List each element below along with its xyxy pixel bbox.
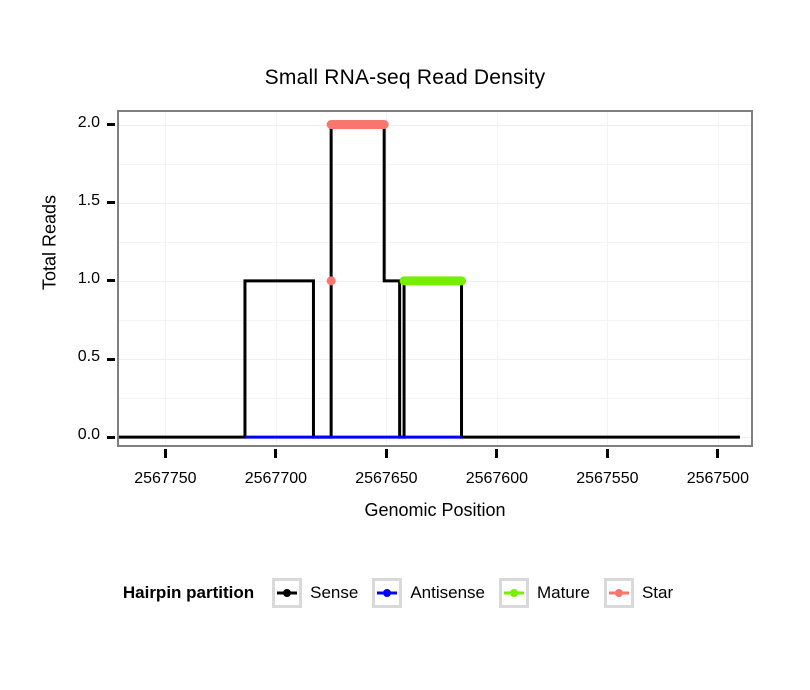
data-series-layer	[119, 112, 751, 445]
legend-label: Mature	[537, 583, 590, 603]
y-tick-mark	[107, 279, 115, 282]
x-tick-mark	[385, 449, 388, 458]
legend-title: Hairpin partition	[123, 583, 254, 603]
legend-key-sense-icon	[272, 578, 302, 608]
plot-area	[119, 112, 751, 445]
legend-key-star-icon	[604, 578, 634, 608]
y-tick-mark	[107, 201, 115, 204]
x-tick-mark	[164, 449, 167, 458]
series-star	[327, 125, 385, 286]
x-tick-mark	[716, 449, 719, 458]
legend-item-mature[interactable]: Mature	[499, 578, 590, 608]
x-tick-mark	[274, 449, 277, 458]
legend: Hairpin partition SenseAntisenseMatureSt…	[0, 578, 810, 608]
y-tick-label: 0.0	[0, 426, 100, 444]
y-tick-label: 0.5	[0, 348, 100, 366]
x-tick-mark	[495, 449, 498, 458]
x-axis-title: Genomic Position	[117, 500, 753, 521]
legend-label: Antisense	[410, 583, 485, 603]
chart-root: Small RNA-seq Read Density Total Reads G…	[0, 0, 810, 690]
legend-item-sense[interactable]: Sense	[272, 578, 358, 608]
y-tick-mark	[107, 358, 115, 361]
y-tick-mark	[107, 436, 115, 439]
legend-label: Star	[642, 583, 673, 603]
x-tick-label: 2567500	[648, 470, 788, 488]
y-axis-title: Total Reads	[40, 153, 61, 333]
y-tick-mark	[107, 123, 115, 126]
legend-items: SenseAntisenseMatureStar	[272, 578, 687, 608]
page-title: Small RNA-seq Read Density	[0, 66, 810, 90]
series-point-star	[327, 276, 336, 285]
legend-key-mature-icon	[499, 578, 529, 608]
x-tick-mark	[606, 449, 609, 458]
y-tick-label: 1.0	[0, 270, 100, 288]
legend-item-star[interactable]: Star	[604, 578, 673, 608]
legend-key-antisense-icon	[372, 578, 402, 608]
plot-panel	[117, 110, 753, 447]
legend-item-antisense[interactable]: Antisense	[372, 578, 485, 608]
y-tick-label: 2.0	[0, 114, 100, 132]
legend-label: Sense	[310, 583, 358, 603]
y-tick-label: 1.5	[0, 192, 100, 210]
